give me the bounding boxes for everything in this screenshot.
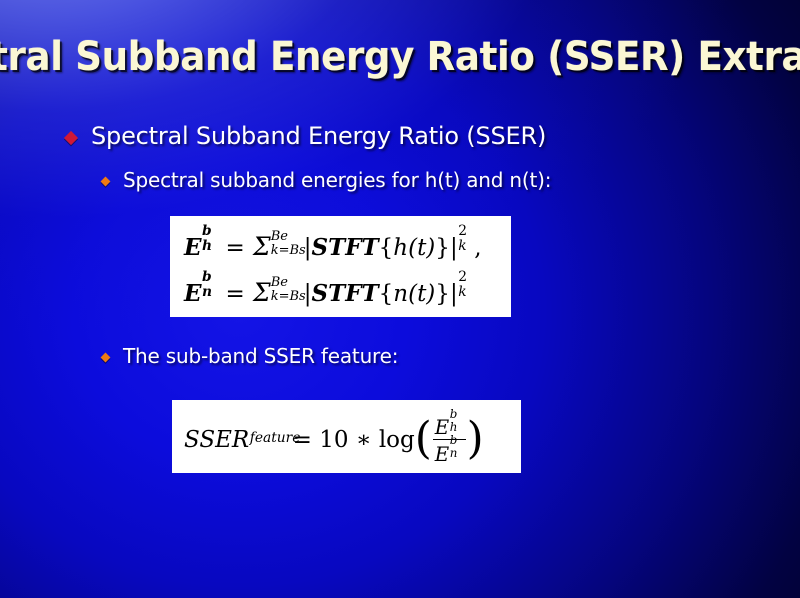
bullet-item-feature-label: The sub-band SSER feature: (123, 344, 398, 368)
equation-energy-n-bar-close: | (450, 281, 458, 307)
equation-energy-n-argument: n(t) (393, 281, 435, 307)
equation-sser-times: ∗ (356, 427, 372, 453)
fraction-denominator: Ebn (433, 440, 466, 465)
summation-lower-limit: k=Bs (271, 290, 306, 303)
equation-sser-lhs-subscript: feature (250, 424, 286, 447)
bullet-item-energies-label: Spectral subband energies for h(t) and n… (123, 168, 551, 192)
diamond-bullet-icon (101, 353, 111, 363)
equation-energy-n-summation: ΣBek=Bs (253, 280, 271, 306)
bullet-item-energies: Spectral subband energies for h(t) and n… (102, 168, 551, 192)
equation-energy-h: Ebh = ΣBek=Bs|STFT{h(t)}|2k, (184, 232, 482, 260)
sigma-icon: Σ (253, 232, 271, 261)
equation-sser-paren-open: ( (415, 417, 432, 461)
diamond-bullet-icon (101, 177, 111, 187)
diamond-bullet-icon (64, 131, 78, 145)
presentation-slide: Spectral Subband Energy Ratio (SSER) Ext… (0, 0, 800, 598)
summation-upper-limit: Be (271, 276, 288, 289)
equation-energy-h-brace-close: } (435, 235, 450, 261)
equation-sser-feature: SSERfeature = 10 ∗ log(EbhEbn) (184, 416, 484, 466)
equation-energy-n-operator: STFT (311, 280, 378, 307)
equation-energy-n-lhs: E (184, 280, 202, 307)
bullet-item-sser-label: Spectral Subband Energy Ratio (SSER) (91, 122, 546, 150)
sigma-icon: Σ (253, 278, 271, 307)
bullet-item-feature: The sub-band SSER feature: (102, 344, 398, 368)
slide-title-bar: Spectral Subband Energy Ratio (SSER) Ext… (0, 34, 800, 96)
equation-sser-log: log (379, 427, 415, 453)
equation-energy-h-lhs-indices: bh (202, 232, 218, 255)
bullet-item-sser: Spectral Subband Energy Ratio (SSER) (66, 122, 546, 150)
equation-energy-h-bar-indices: 2k (458, 232, 474, 255)
equation-sser-lhs: SSER (184, 427, 249, 453)
equation-energy-h-trailing: , (474, 235, 481, 261)
equation-energy-h-operator: STFT (311, 234, 378, 261)
formula-image-sser-feature: SSERfeature = 10 ∗ log(EbhEbn) (172, 400, 521, 473)
equation-energy-n-brace-close: } (435, 281, 450, 307)
equation-energy-h-brace-open: { (379, 235, 394, 261)
summation-upper-limit: Be (271, 230, 288, 243)
equation-energy-h-argument: h(t) (393, 235, 435, 261)
equation-energy-n-equals: = (225, 281, 244, 307)
summation-lower-limit: k=Bs (271, 244, 306, 257)
formula-image-subband-energies: Ebh = ΣBek=Bs|STFT{h(t)}|2k, Ebn = ΣBek=… (170, 216, 511, 317)
equation-energy-h-lhs: E (184, 234, 202, 261)
equation-energy-n-brace-open: { (379, 281, 394, 307)
equation-sser-coefficient: 10 (319, 427, 348, 453)
equation-energy-n-lhs-indices: bn (202, 278, 218, 301)
equation-energy-h-summation: ΣBek=Bs (253, 234, 271, 260)
equation-energy-n-bar-indices: 2k (458, 278, 474, 301)
equation-sser-fraction: EbhEbn (433, 414, 466, 464)
page-title: Spectral Subband Energy Ratio (SSER) Ext… (0, 34, 800, 80)
equation-energy-n: Ebn = ΣBek=Bs|STFT{n(t)}|2k (184, 278, 474, 306)
equation-energy-h-bar-close: | (450, 235, 458, 261)
equation-sser-paren-close: ) (467, 417, 484, 461)
equation-energy-h-equals: = (225, 235, 244, 261)
